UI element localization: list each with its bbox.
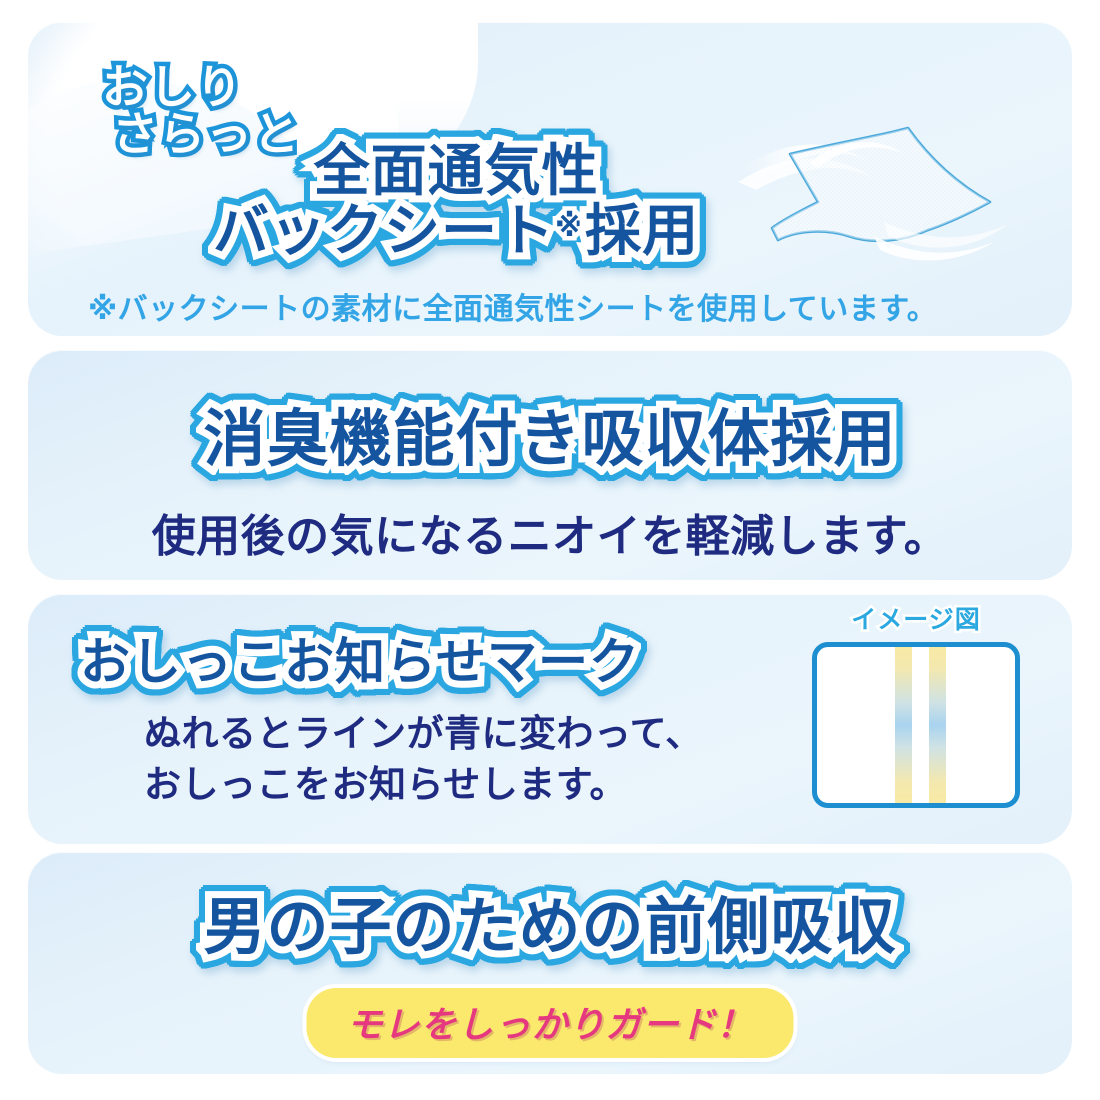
- feature-panel-front-absorption-boys: 男の子のための前側吸収 モレをしっかりガード！: [28, 852, 1072, 1074]
- catch-copy: おしり さらっと: [102, 64, 300, 158]
- catch-copy-line-2: さらっと: [102, 111, 300, 158]
- wetness-indicator-figure: イメージ図: [812, 600, 1020, 808]
- wetness-stripe-left-icon: [895, 645, 912, 805]
- panel-3-title: おしっこお知らせマーク: [80, 622, 640, 694]
- product-feature-infographic: おしり さらっと: [0, 0, 1100, 1100]
- feature-panel-deodorant-absorber: 消臭機能付き吸収体採用 使用後の気になるニオイを軽減します。: [28, 350, 1072, 580]
- panel-3-body: ぬれるとラインが青に変わって、 おしっこをお知らせします。: [144, 708, 703, 810]
- panel-1-footnote: ※バックシートの素材に全面通気性シートを使用しています。: [88, 284, 937, 328]
- breathable-sheet-icon: [732, 110, 1032, 290]
- panel-3-body-line-1: ぬれるとラインが青に変わって、: [144, 708, 703, 759]
- leak-guard-badge-text: モレをしっかりガード！: [346, 1005, 753, 1046]
- feature-panel-wetness-indicator: おしっこお知らせマーク ぬれるとラインが青に変わって、 おしっこをお知らせします…: [28, 594, 1072, 844]
- panel-4-title: 男の子のための前側吸収: [28, 876, 1072, 966]
- leak-guard-badge: モレをしっかりガード！: [306, 988, 793, 1058]
- figure-box: [812, 642, 1020, 808]
- wetness-stripe-right-icon: [929, 645, 946, 805]
- catch-copy-line-1: おしり: [102, 60, 243, 114]
- feature-panel-breathable-backsheet: おしり さらっと: [28, 22, 1072, 336]
- panel-1-title-line-2: バックシート※採用: [213, 202, 699, 262]
- panel-3-body-line-2: おしっこをお知らせします。: [144, 759, 703, 810]
- figure-label: イメージ図: [812, 600, 1020, 636]
- reference-mark-icon: ※: [555, 209, 585, 244]
- panel-2-title: 消臭機能付き吸収体採用: [28, 388, 1072, 478]
- panel-2-subtitle: 使用後の気になるニオイを軽減します。: [28, 500, 1072, 564]
- panel-1-title-line-2-main: バックシート: [213, 199, 555, 264]
- panel-1-title-line-2-tail: 採用: [585, 199, 699, 264]
